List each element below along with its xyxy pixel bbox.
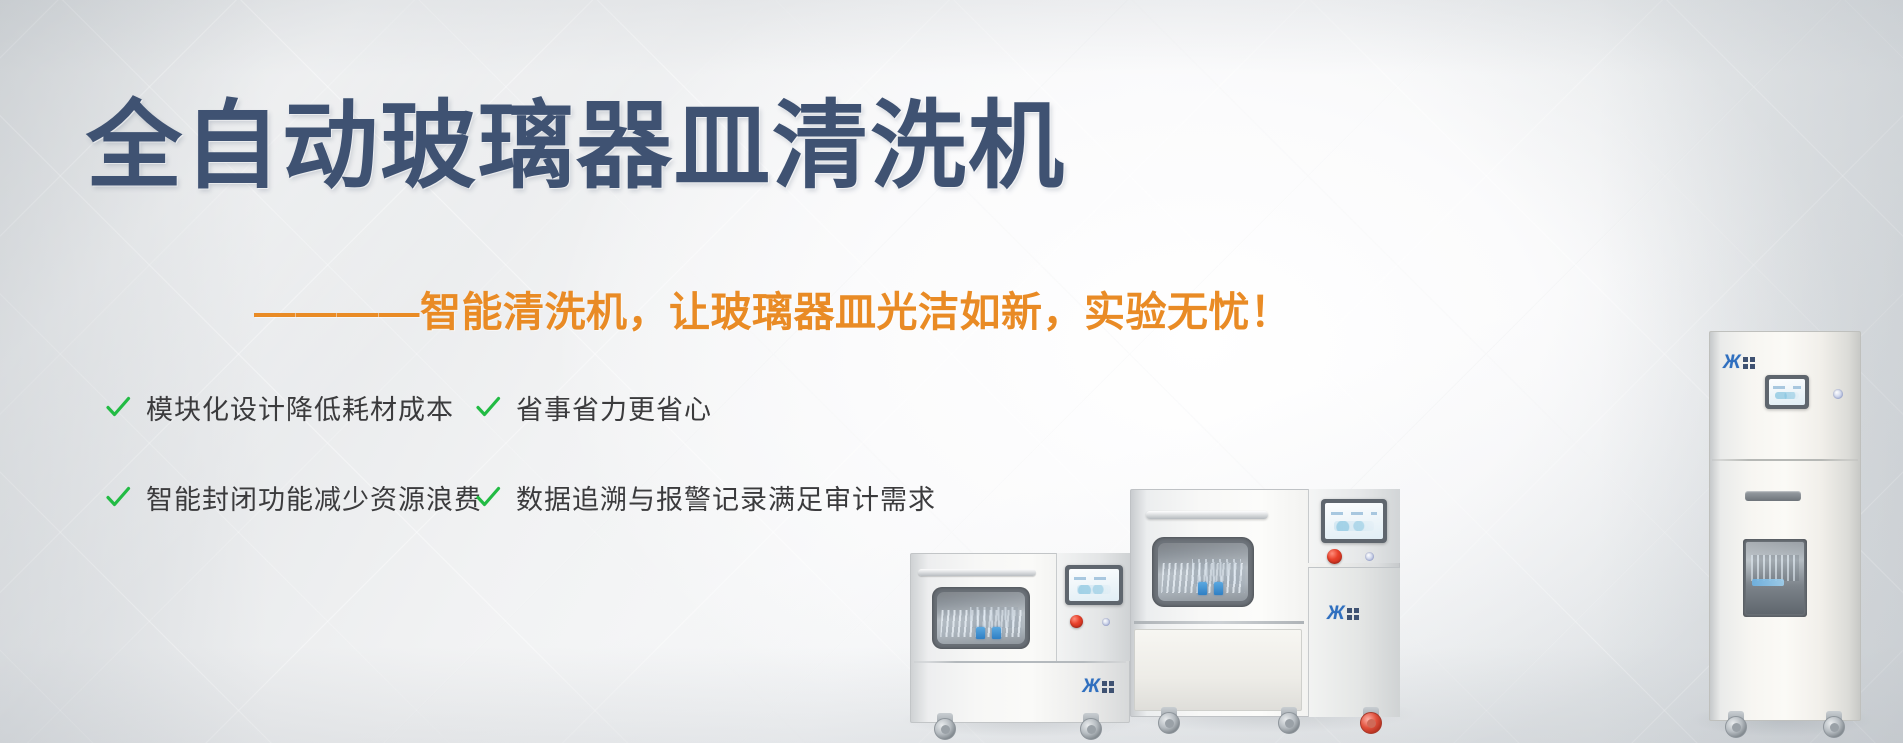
brand-logo: Ж (1082, 677, 1114, 696)
glassware-load (1158, 543, 1248, 601)
caster-wheel (932, 713, 958, 740)
screen-surface (1325, 503, 1383, 539)
feature-item: 省事省力更省心 (474, 388, 894, 427)
feature-item: 智能封闭功能减少资源浪费 (104, 478, 474, 517)
glassware-load (937, 592, 1025, 644)
check-icon (104, 483, 132, 511)
logo-squares (1743, 357, 1755, 369)
emergency-stop-button[interactable] (1070, 615, 1083, 628)
panel-seam (1134, 621, 1304, 624)
blue-tube (1752, 579, 1784, 586)
machine-top-rail (918, 569, 1036, 576)
logo-squares (1102, 681, 1114, 693)
touchscreen-display[interactable] (1065, 565, 1123, 605)
logo-glyph: Ж (1327, 604, 1343, 623)
check-icon (104, 393, 132, 421)
logo-glyph: Ж (1082, 677, 1098, 696)
door-handle[interactable] (1745, 491, 1801, 501)
glass-rack (1751, 555, 1800, 581)
feature-label: 模块化设计降低耗材成本 (146, 388, 454, 427)
caster-wheel (1078, 713, 1104, 740)
blue-tube (1198, 582, 1207, 595)
feature-row: 智能封闭功能减少资源浪费 数据追溯与报警记录满足审计需求 (104, 468, 974, 526)
product-image-column-washer: Ж (1709, 331, 1861, 721)
product-images: Ж (880, 0, 1903, 743)
caster-wheel (1723, 711, 1749, 738)
door-viewing-window (1152, 537, 1254, 607)
control-panel (1056, 553, 1130, 661)
panel-seam (914, 661, 1126, 663)
check-icon (474, 393, 502, 421)
feature-label: 智能封闭功能减少资源浪费 (146, 478, 482, 517)
window-reflection (937, 592, 1025, 613)
touchscreen-display[interactable] (1765, 375, 1809, 409)
touchscreen-display[interactable] (1321, 499, 1387, 543)
screen-surface (1769, 379, 1805, 405)
lower-access-door[interactable] (1134, 629, 1302, 711)
logo-squares (1347, 608, 1359, 620)
product-image-benchtop-washer: Ж (910, 553, 1130, 723)
feature-label: 数据追溯与报警记录满足审计需求 (516, 478, 936, 517)
panel-seam (1712, 459, 1858, 461)
machine-top-rail (1146, 511, 1268, 519)
status-indicator-light (1102, 618, 1110, 626)
emergency-stop-button[interactable] (1327, 549, 1342, 564)
product-image-undercounter-washer: Ж (1130, 489, 1400, 717)
feature-item: 数据追溯与报警记录满足审计需求 (474, 478, 894, 517)
door-viewing-window (932, 587, 1030, 649)
lower-side-panel: Ж (1308, 567, 1400, 717)
door-viewing-window (1743, 539, 1807, 617)
caster-wheel (1156, 707, 1182, 734)
screen-surface (1069, 569, 1119, 601)
control-panel (1308, 489, 1400, 563)
blue-tube (1214, 582, 1223, 595)
feature-label: 省事省力更省心 (516, 388, 712, 427)
blue-tube (976, 627, 985, 638)
caster-wheel (1276, 707, 1302, 734)
caster-wheel (1821, 711, 1847, 738)
chamber-interior (1746, 542, 1804, 614)
logo-glyph: Ж (1723, 353, 1739, 372)
feature-list: 模块化设计降低耗材成本 省事省力更省心 (104, 378, 974, 558)
blue-tube (992, 627, 1001, 638)
brand-logo: Ж (1327, 604, 1359, 623)
brand-logo: Ж (1723, 353, 1755, 372)
promo-banner: 全自动玻璃器皿清洗机 ————智能清洗机，让玻璃器皿光洁如新，实验无忧！ 模块化… (0, 0, 1903, 743)
check-icon (474, 483, 502, 511)
status-indicator-light (1833, 389, 1843, 399)
status-indicator-light (1365, 552, 1374, 561)
feature-row: 模块化设计降低耗材成本 省事省力更省心 (104, 378, 974, 436)
feature-item: 模块化设计降低耗材成本 (104, 388, 474, 427)
window-reflection (1158, 543, 1248, 566)
caster-wheel (1358, 707, 1384, 734)
